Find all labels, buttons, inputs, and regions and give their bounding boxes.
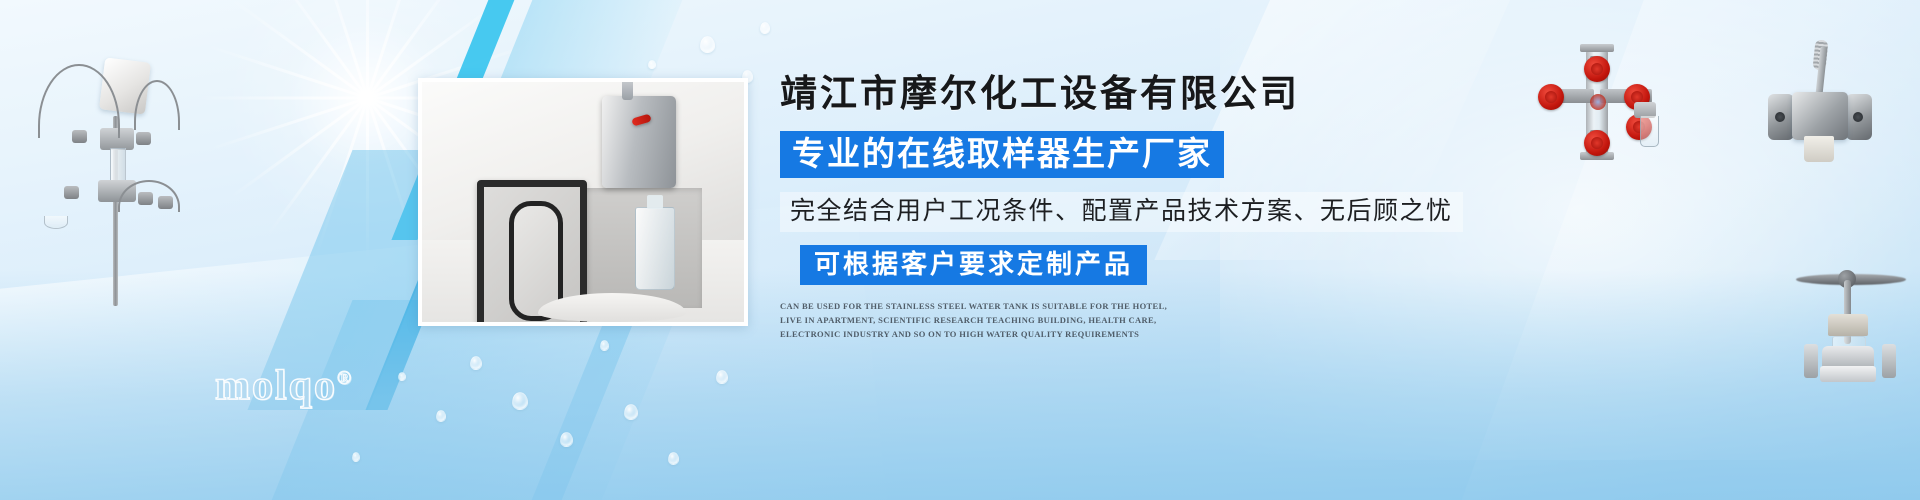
product-photo-frame xyxy=(418,78,748,326)
water-droplet xyxy=(436,410,446,422)
water-droplet xyxy=(760,22,770,34)
subheadline: 完全结合用户工况条件、配置产品技术方案、无后顾之忧 xyxy=(780,192,1463,232)
water-droplet xyxy=(648,60,656,69)
diagonal-stripe-lower xyxy=(507,300,642,500)
tagline-row: 可根据客户要求定制产品 xyxy=(800,245,1420,285)
red-handwheel-icon xyxy=(1538,84,1564,110)
water-droplet xyxy=(352,452,360,462)
water-droplet xyxy=(512,392,528,410)
cross-sampler-image xyxy=(1528,42,1678,162)
water-droplet xyxy=(668,452,679,465)
tagline-badge: 可根据客户要求定制产品 xyxy=(800,245,1147,285)
water-droplet xyxy=(600,340,609,351)
water-droplet xyxy=(398,372,406,381)
water-droplet xyxy=(470,356,482,370)
product-photo xyxy=(422,82,744,322)
left-product-image xyxy=(8,20,208,300)
headline-badge: 专业的在线取样器生产厂家 xyxy=(780,131,1224,178)
english-description: CAN BE USED FOR THE STAINLESS STEEL WATE… xyxy=(780,299,1180,341)
promo-banner: 靖江市摩尔化工设备有限公司 专业的在线取样器生产厂家 完全结合用户工况条件、配置… xyxy=(0,0,1920,500)
headline-text-block: 靖江市摩尔化工设备有限公司 专业的在线取样器生产厂家 完全结合用户工况条件、配置… xyxy=(780,74,1420,341)
red-handwheel-icon xyxy=(1584,130,1610,156)
watermark-text: molqo xyxy=(215,363,337,409)
water-droplet xyxy=(716,370,728,384)
water-droplet xyxy=(700,36,715,53)
headline-row: 专业的在线取样器生产厂家 xyxy=(780,131,1420,178)
water-droplet xyxy=(560,432,573,447)
lever-valve-image xyxy=(1762,40,1882,185)
brand-seal-icon xyxy=(1590,94,1606,110)
watermark-logo: molqo® xyxy=(215,362,353,410)
gate-valve-image xyxy=(1790,228,1910,388)
red-handwheel-icon xyxy=(1584,56,1610,82)
subheadline-row: 完全结合用户工况条件、配置产品技术方案、无后顾之忧 xyxy=(780,178,1420,232)
company-name: 靖江市摩尔化工设备有限公司 xyxy=(780,74,1420,115)
registered-mark-icon: ® xyxy=(337,368,353,389)
water-droplet xyxy=(624,404,638,420)
